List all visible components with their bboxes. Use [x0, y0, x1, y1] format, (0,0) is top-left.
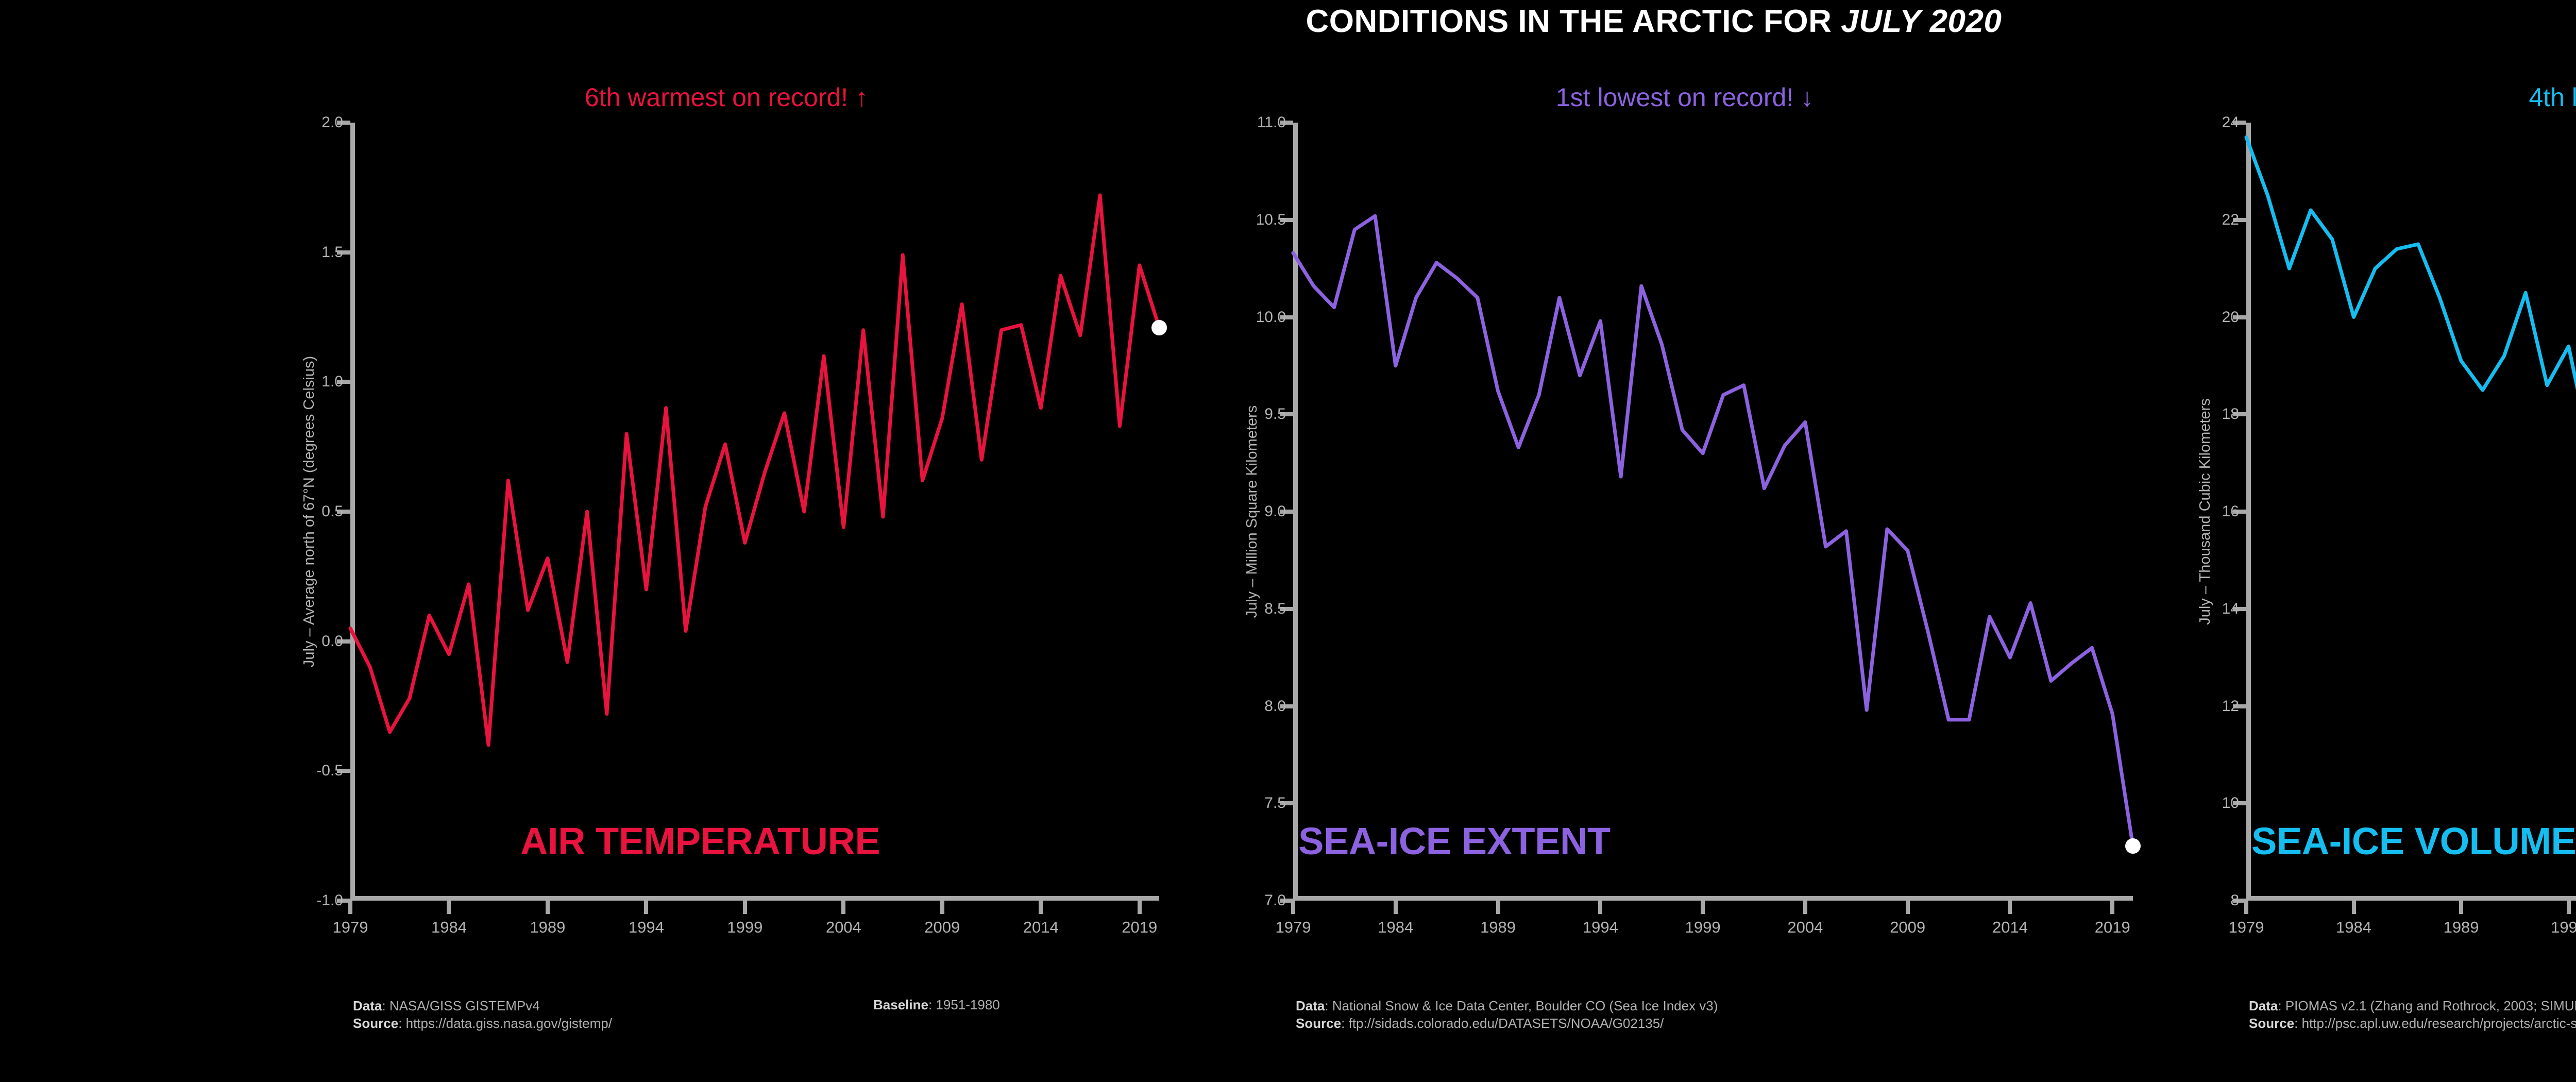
footer-data-line: Data: PIOMAS v2.1 (Zhang and Rothrock, 2…	[2249, 997, 2576, 1015]
x-tick	[2110, 901, 2114, 914]
footer-air-temperature: Data: NASA/GISS GISTEMPv4Source: https:/…	[353, 997, 612, 1033]
series-line-sea-ice-volume	[2246, 123, 2576, 901]
y-tick-label: 8.0	[1264, 698, 1286, 715]
x-tick	[1291, 901, 1295, 914]
y-tick-label: 10.0	[1256, 309, 1286, 326]
x-tick	[1394, 901, 1398, 914]
x-tick	[841, 901, 845, 914]
y-axis-title: July – Million Square Kilometers	[1244, 405, 1261, 618]
panel-sea-ice-volume: 4th lowest on record! ↓81012141618202224…	[2184, 82, 2576, 1051]
footer-sea-ice-extent: Data: National Snow & Ice Data Center, B…	[1296, 997, 1718, 1033]
x-tick	[447, 901, 451, 914]
series-line-sea-ice-extent	[1293, 123, 2133, 901]
x-tick-label: 1989	[530, 918, 565, 937]
x-tick-label: 1999	[1685, 918, 1721, 937]
y-tick-label: 8.5	[1264, 600, 1286, 618]
y-tick-label: -1.0	[316, 892, 343, 909]
y-tick-label: 1.5	[321, 244, 343, 261]
footer-source-line: Source: ftp://sidads.colorado.edu/DATASE…	[1296, 1015, 1718, 1032]
y-tick-label: 10	[2222, 794, 2239, 812]
x-tick-label: 1989	[2444, 918, 2479, 937]
y-tick-label: 16	[2222, 503, 2239, 520]
x-tick-label: 2019	[2095, 918, 2130, 937]
plot-area-air-temperature: -1.0-0.50.00.51.01.52.019791984198919941…	[350, 123, 1159, 901]
x-tick-label: 2014	[1023, 918, 1059, 937]
x-tick-label: 2004	[826, 918, 861, 937]
y-tick-label: 2.0	[321, 114, 343, 131]
y-axis-title: July – Thousand Cubic Kilometers	[2197, 398, 2214, 625]
y-tick-label: 24	[2222, 114, 2239, 131]
x-tick	[348, 901, 352, 914]
x-tick-label: 2014	[1992, 918, 2028, 937]
y-tick-label: 7.5	[1264, 794, 1286, 812]
x-tick	[1496, 901, 1500, 914]
y-tick-label: 0.0	[321, 633, 343, 650]
y-tick-label: 9.5	[1264, 405, 1286, 423]
plot-area-sea-ice-extent: 7.07.58.08.59.09.510.010.511.01979198419…	[1293, 123, 2133, 901]
baseline-note: Baseline: 1951-1980	[873, 997, 1000, 1013]
footer-data-value: PIOMAS v2.1 (Zhang and Rothrock, 2003; S…	[2285, 998, 2576, 1013]
y-tick-label: 10.5	[1256, 211, 1286, 229]
x-tick	[2244, 901, 2248, 914]
latest-value-marker	[2125, 838, 2141, 854]
y-tick-label: 9.0	[1264, 503, 1286, 520]
x-tick	[1906, 901, 1910, 914]
x-tick	[940, 901, 944, 914]
x-tick-label: 1994	[2551, 918, 2576, 937]
page-title: CONDITIONS IN THE ARCTIC FOR JULY 2020	[0, 3, 2576, 40]
x-tick-label: 1984	[431, 918, 467, 937]
footer-source-value[interactable]: http://psc.apl.uw.edu/research/projects/…	[2302, 1016, 2576, 1031]
footer-data-value: National Snow & Ice Data Center, Boulder…	[1332, 998, 1718, 1013]
page-title-month: JULY 2020	[1841, 4, 2002, 39]
x-tick	[2008, 901, 2012, 914]
y-tick-label: 1.0	[321, 373, 343, 391]
footer-source-line: Source: http://psc.apl.uw.edu/research/p…	[2249, 1015, 2576, 1032]
x-tick-label: 2004	[1787, 918, 1823, 937]
x-tick	[1598, 901, 1602, 914]
x-tick-label: 1994	[629, 918, 664, 937]
footer-data-line: Data: NASA/GISS GISTEMPv4	[353, 997, 612, 1015]
footer-source-line: Source: https://data.giss.nasa.gov/giste…	[353, 1015, 612, 1032]
y-tick-label: 18	[2222, 405, 2239, 423]
panel-subtitle-sea-ice-extent: 1st lowest on record! ↓	[1231, 82, 2138, 112]
x-tick	[546, 901, 550, 914]
x-tick	[2352, 901, 2356, 914]
panel-sea-ice-extent: 1st lowest on record! ↓7.07.58.08.59.09.…	[1231, 82, 2138, 1051]
panel-heading-sea-ice-volume: SEA-ICE VOLUME	[2251, 819, 2576, 863]
y-tick-label: 12	[2222, 698, 2239, 715]
y-tick-label: 8	[2230, 892, 2239, 909]
x-tick-label: 1989	[1480, 918, 1516, 937]
y-tick-label: 22	[2222, 211, 2239, 229]
panel-heading-air-temperature: AIR TEMPERATURE	[520, 819, 880, 863]
y-tick-label: 14	[2222, 600, 2239, 618]
series-line-air-temperature	[350, 123, 1159, 901]
x-tick-label: 1979	[1276, 918, 1311, 937]
baseline-value: 1951-1980	[936, 997, 999, 1012]
x-tick	[2459, 901, 2463, 914]
panel-subtitle-air-temperature: 6th warmest on record! ↑	[289, 82, 1164, 112]
x-tick	[644, 901, 648, 914]
footer-data-line: Data: National Snow & Ice Data Center, B…	[1296, 997, 1718, 1015]
footer-sea-ice-volume: Data: PIOMAS v2.1 (Zhang and Rothrock, 2…	[2249, 997, 2576, 1033]
x-tick	[1803, 901, 1807, 914]
latest-value-marker	[1151, 320, 1167, 335]
x-tick	[2567, 901, 2571, 914]
x-tick-label: 2019	[1122, 918, 1157, 937]
y-tick-label: 0.5	[321, 503, 343, 520]
x-tick-label: 1994	[1583, 918, 1618, 937]
panel-subtitle-sea-ice-volume: 4th lowest on record! ↓	[2184, 82, 2576, 112]
footer-source-value[interactable]: https://data.giss.nasa.gov/gistemp/	[406, 1016, 612, 1031]
x-tick-label: 1979	[333, 918, 368, 937]
y-tick-label: 11.0	[1257, 114, 1286, 131]
x-tick-label: 1979	[2229, 918, 2264, 937]
y-tick-label: 7.0	[1264, 892, 1286, 909]
x-tick	[743, 901, 747, 914]
panel-air-temperature: 6th warmest on record! ↑-1.0-0.50.00.51.…	[289, 82, 1164, 1051]
x-tick-label: 2009	[924, 918, 960, 937]
x-tick	[1138, 901, 1142, 914]
panel-heading-sea-ice-extent: SEA-ICE EXTENT	[1298, 819, 1611, 863]
plot-area-sea-ice-volume: 8101214161820222419791984198919941999200…	[2246, 123, 2576, 901]
y-axis-title: July – Average north of 67°N (degrees Ce…	[301, 356, 318, 667]
x-tick-label: 1984	[2336, 918, 2371, 937]
footer-source-value[interactable]: ftp://sidads.colorado.edu/DATASETS/NOAA/…	[1349, 1016, 1664, 1031]
x-tick-label: 1984	[1378, 918, 1413, 937]
x-tick	[1701, 901, 1705, 914]
page-title-main: CONDITIONS IN THE ARCTIC FOR	[1306, 4, 1841, 39]
footer-data-value: NASA/GISS GISTEMPv4	[389, 998, 540, 1013]
y-tick-label: 20	[2222, 309, 2239, 326]
x-tick	[1039, 901, 1043, 914]
y-tick-label: -0.5	[316, 762, 343, 780]
x-tick-label: 2009	[1890, 918, 1925, 937]
x-tick-label: 1999	[727, 918, 762, 937]
